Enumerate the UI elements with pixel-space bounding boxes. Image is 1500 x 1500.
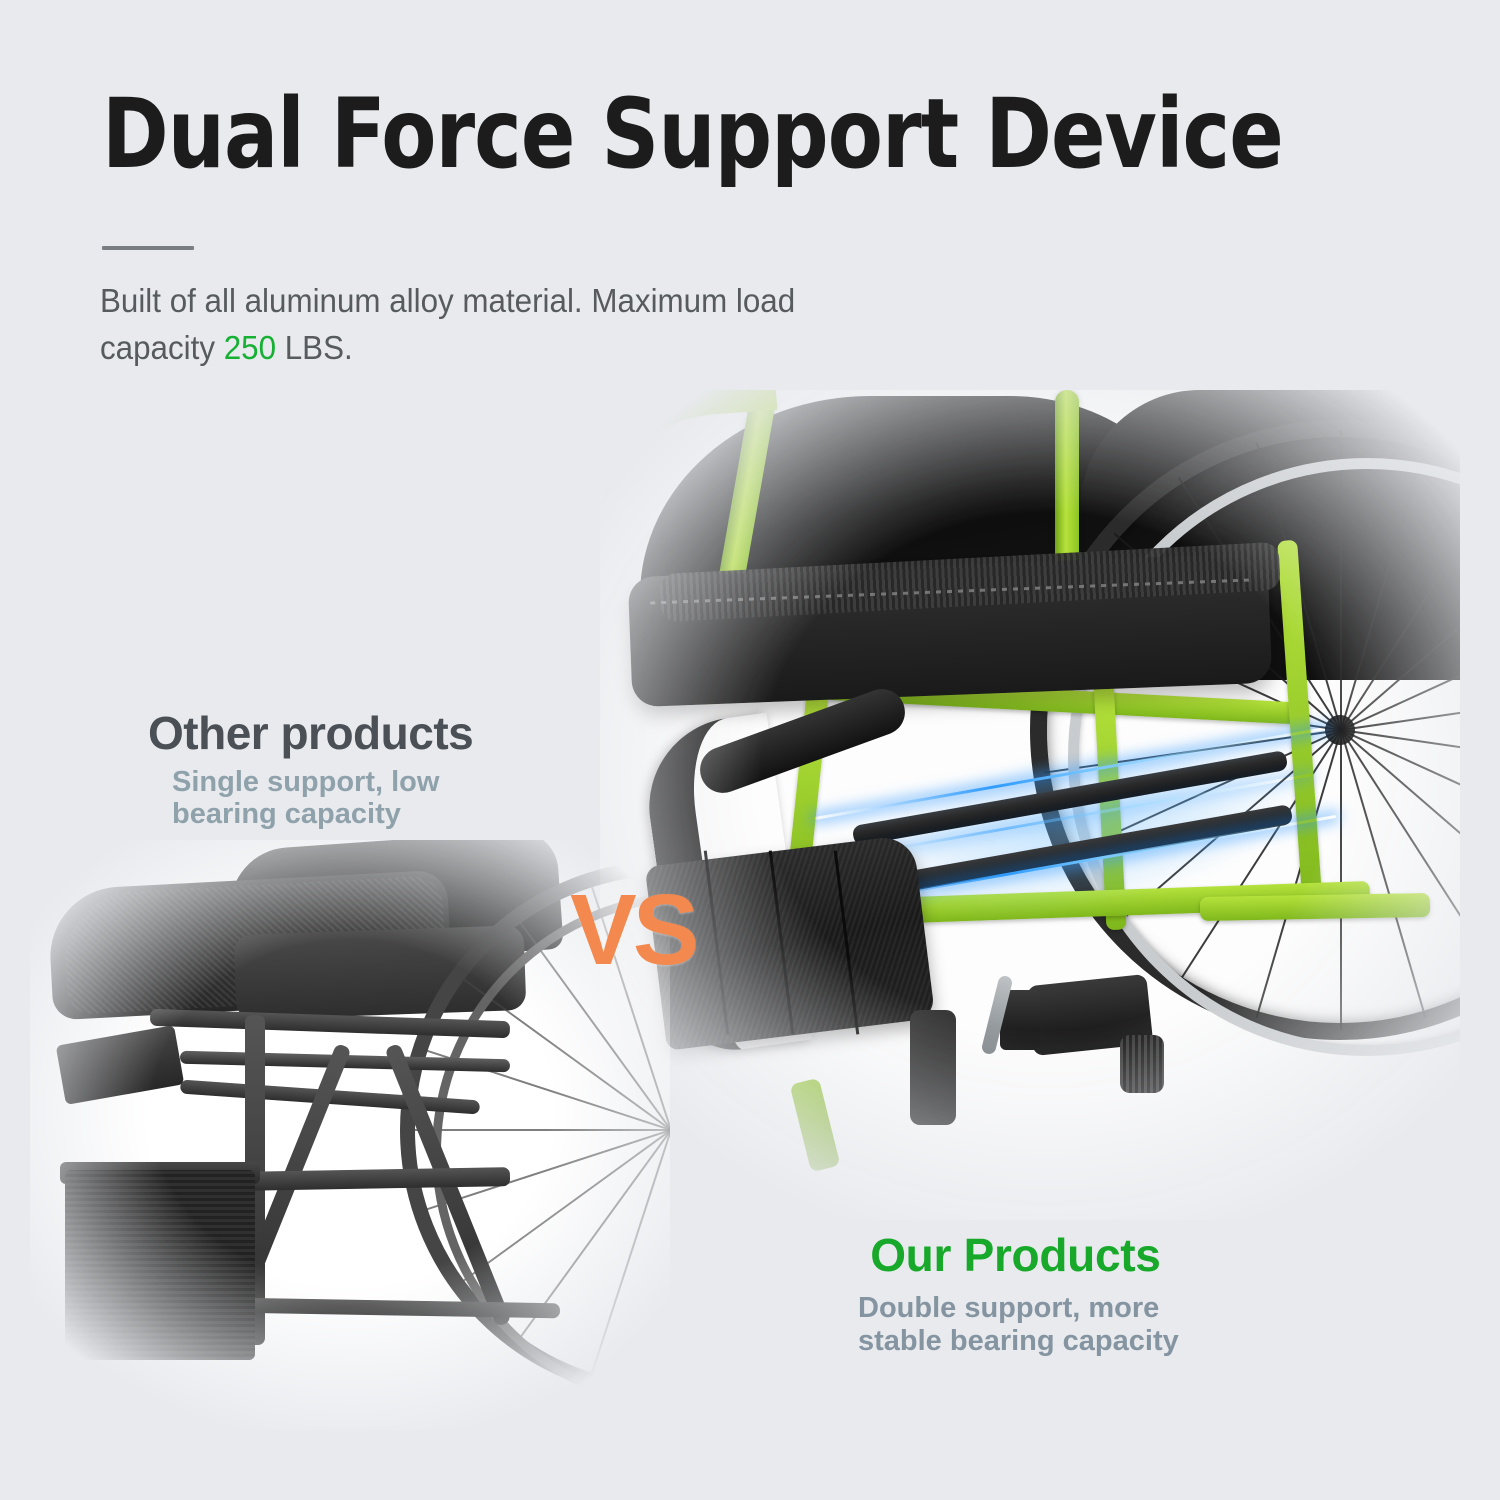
our-product-caption: Double support, more stable bearing capa… [858,1292,1179,1358]
our-product-caption-line-2: stable bearing capacity [858,1325,1179,1358]
vs-badge: VS [570,880,695,980]
competitor-label-block: Other products Single support, low beari… [148,706,473,830]
our-product-label-block: Our Products Double support, more stable… [852,1228,1179,1358]
subtitle-prefix: Built of all aluminum alloy material. Ma… [100,282,795,366]
subtitle-text: Built of all aluminum alloy material. Ma… [100,277,917,371]
title-divider [102,246,194,250]
competitor-caption-line-1: Single support, low [172,766,473,798]
green-frame-bar-5 [1200,893,1430,921]
load-capacity-value: 250 [224,329,276,366]
adjustment-knob [1120,1035,1164,1093]
page-title: Dual Force Support Device [102,78,1283,190]
marketing-banner: Dual Force Support Device Built of all a… [0,0,1500,1500]
our-wheelchair-photo [600,390,1460,1220]
competitor-heading: Other products [148,706,473,760]
competitor-caption-line-2: bearing capacity [172,798,473,830]
anti-tip-post [910,1010,956,1125]
our-product-caption-line-1: Double support, more [858,1292,1179,1325]
our-product-heading: Our Products [852,1228,1179,1282]
competitor-caption: Single support, low bearing capacity [172,766,473,830]
competitor-storage-basket [65,1170,255,1360]
subtitle-suffix: LBS. [276,329,353,366]
